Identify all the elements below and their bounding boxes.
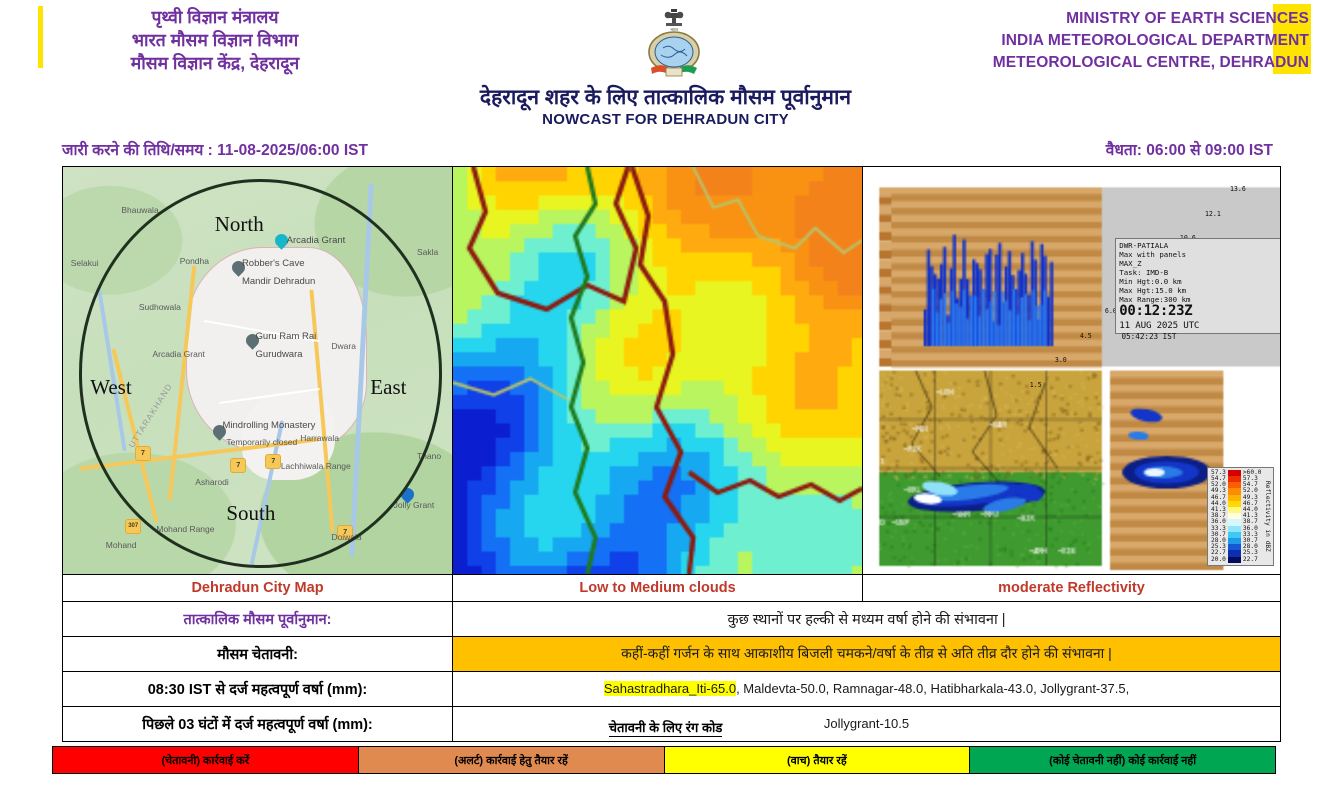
rainfall-since-0830-label: 08:30 IST से दर्ज महत्वपूर्ण वर्षा (mm):: [63, 671, 453, 706]
radar-scale-unit-label: Reflectivity in dBZ: [1264, 481, 1270, 552]
map-label-jolly-grant: Jolly Grant: [394, 501, 435, 511]
radar-time-ist: 05:42:23 IST: [1122, 332, 1177, 341]
nowcast-label: तात्कालिक मौसम पूर्वानुमान:: [63, 601, 453, 636]
header-english: MINISTRY OF EARTH SCIENCES INDIA METEORO…: [869, 8, 1309, 74]
rainfall-since-0830-rest: , Maldevta-50.0, Ramnagar-48.0, Hatibhar…: [736, 681, 1129, 696]
nowcast-row: तात्कालिक मौसम पूर्वानुमान: कुछ स्थानों …: [63, 601, 1281, 636]
header-english-line-3: METEOROLOGICAL CENTRE, DEHRADUN: [869, 52, 1309, 74]
map-direction-east: East: [370, 375, 406, 400]
document-title: देहरादून शहर के लिए तात्कालिक मौसम पूर्व…: [0, 85, 1331, 128]
map-road-shield-4: 307: [125, 519, 141, 534]
colour-code-watch[interactable]: (वाच) तैयार रहें: [665, 747, 971, 773]
validity-period: वैधता: 06:00 से 09:00 IST: [1106, 138, 1273, 160]
header-hindi-line-3: मौसम विज्ञान केंद्र, देहरादून: [55, 52, 375, 75]
warning-value: कहीं-कहीं गर्जन के साथ आकाशीय बिजली चमकन…: [453, 636, 1281, 671]
map-direction-west: West: [90, 375, 131, 400]
radar-info-station: DWR-PATIALA: [1119, 241, 1277, 250]
colour-code-no-warning[interactable]: (कोई चेतावनी नहीं) कोई कार्रवाई नहीं: [970, 747, 1275, 773]
caption-satellite: Low to Medium clouds: [453, 574, 863, 601]
radar-info-maxhgt: Max Hgt:15.0 km: [1119, 286, 1277, 295]
page-header: पृथ्वी विज्ञान मंत्रालय भारत मौसम विज्ञा…: [0, 0, 1331, 90]
warning-row: मौसम चेतावनी: कहीं-कहीं गर्जन के साथ आका…: [63, 636, 1281, 671]
header-english-line-2: INDIA METEOROLOGICAL DEPARTMENT: [869, 30, 1309, 52]
radar-info-box: DWR-PATIALA Max with panels MAX_Z Task: …: [1115, 238, 1280, 334]
radar-height-tick-1-5: 1.5: [1030, 381, 1042, 389]
radar-height-tick-4-5: 4.5: [1080, 332, 1092, 340]
radar-date-utc: 11 AUG 2025 UTC: [1119, 320, 1277, 331]
imd-emblem-icon: भारत: [645, 6, 703, 82]
radar-panel-cell: 13.6 12.1 10.6 9.0 7.5 6.0 4.5 3.0 1.5 D…: [863, 167, 1281, 575]
rainfall-highlight-station: Sahastradhara_Iti-65.0: [604, 681, 736, 696]
title-hindi: देहरादून शहर के लिए तात्कालिक मौसम पूर्व…: [0, 85, 1331, 110]
rainfall-row-since-0830: 08:30 IST से दर्ज महत्वपूर्ण वर्षा (mm):…: [63, 671, 1281, 706]
caption-map: Dehradun City Map: [63, 574, 453, 601]
colour-code-title-text: चेतावनी के लिए रंग कोड: [609, 720, 723, 737]
radar-info-task: Task: IMD-B: [1119, 268, 1277, 277]
colour-code-title: चेतावनी के लिए रंग कोड: [0, 718, 1331, 736]
panel-row: 7 7 7 307 7 Arcadia Grant Robber's Cave …: [63, 167, 1281, 575]
issue-datetime: जारी करने की तिथि/समय : 11-08-2025/06:00…: [62, 138, 368, 160]
map-label-bhauwala: Bhauwala: [121, 206, 158, 216]
header-hindi-line-1: पृथ्वी विज्ञान मंत्रालय: [55, 6, 375, 29]
radar-scale-colour-bar: [1228, 470, 1241, 563]
issue-validity-row: जारी करने की तिथि/समय : 11-08-2025/06:00…: [0, 138, 1331, 162]
satellite-canvas: [453, 167, 862, 574]
radar-info-product: Max with panels: [1119, 250, 1277, 259]
satellite-panel-cell: [453, 167, 863, 575]
radar-time-utc: 00:12:23Z: [1119, 304, 1277, 319]
map-panel-cell: 7 7 7 307 7 Arcadia Grant Robber's Cave …: [63, 167, 453, 575]
map-direction-south: South: [226, 501, 275, 526]
nowcast-table: 7 7 7 307 7 Arcadia Grant Robber's Cave …: [62, 166, 1281, 742]
title-english: NOWCAST FOR DEHRADUN CITY: [0, 111, 1331, 128]
warning-label: मौसम चेतावनी:: [63, 636, 453, 671]
map-label-selakui: Selakui: [71, 259, 99, 269]
map-label-mohand: Mohand: [106, 541, 137, 551]
caption-radar: moderate Reflectivity: [863, 574, 1281, 601]
radar-colour-scale: 57.354.752.049.346.744.041.338.736.033.3…: [1207, 467, 1274, 566]
radar-height-tick-13-6: 13.6: [1230, 185, 1246, 193]
radar-height-tick-3-0: 3.0: [1055, 356, 1067, 364]
radar-info-minhgt: Min Hgt:0.0 km: [1119, 277, 1277, 286]
caption-row: Dehradun City Map Low to Medium clouds m…: [63, 574, 1281, 601]
header-hindi-line-2: भारत मौसम विज्ञान विभाग: [55, 29, 375, 52]
map-label-sakla: Sakla: [417, 248, 438, 258]
header-english-line-1: MINISTRY OF EARTH SCIENCES: [869, 8, 1309, 30]
colour-code-legend: (चेतावनी) कार्रवाई करें (अलर्ट) कार्रवाई…: [52, 746, 1276, 774]
radar-scale-right-values: >60.057.354.752.049.346.744.041.338.736.…: [1243, 470, 1262, 563]
nowcast-value: कुछ स्थानों पर हल्की से मध्यम वर्षा होने…: [453, 601, 1281, 636]
satellite-cloud-image[interactable]: [453, 167, 862, 574]
rainfall-since-0830-value: Sahastradhara_Iti-65.0, Maldevta-50.0, R…: [453, 671, 1281, 706]
dehradun-city-map[interactable]: 7 7 7 307 7 Arcadia Grant Robber's Cave …: [63, 167, 452, 574]
radar-info-maxz: MAX_Z: [1119, 259, 1277, 268]
radar-reflectivity-image[interactable]: 13.6 12.1 10.6 9.0 7.5 6.0 4.5 3.0 1.5 D…: [863, 167, 1280, 574]
map-direction-north: North: [215, 212, 264, 237]
radar-height-tick-12-1: 12.1: [1205, 210, 1221, 218]
header-hindi: पृथ्वी विज्ञान मंत्रालय भारत मौसम विज्ञा…: [55, 6, 375, 75]
colour-code-alert[interactable]: (अलर्ट) कार्रवाई हेतु तैयार रहें: [359, 747, 665, 773]
colour-code-warning[interactable]: (चेतावनी) कार्रवाई करें: [53, 747, 359, 773]
radar-scale-left-values: 57.354.752.049.346.744.041.338.736.033.3…: [1211, 470, 1226, 563]
